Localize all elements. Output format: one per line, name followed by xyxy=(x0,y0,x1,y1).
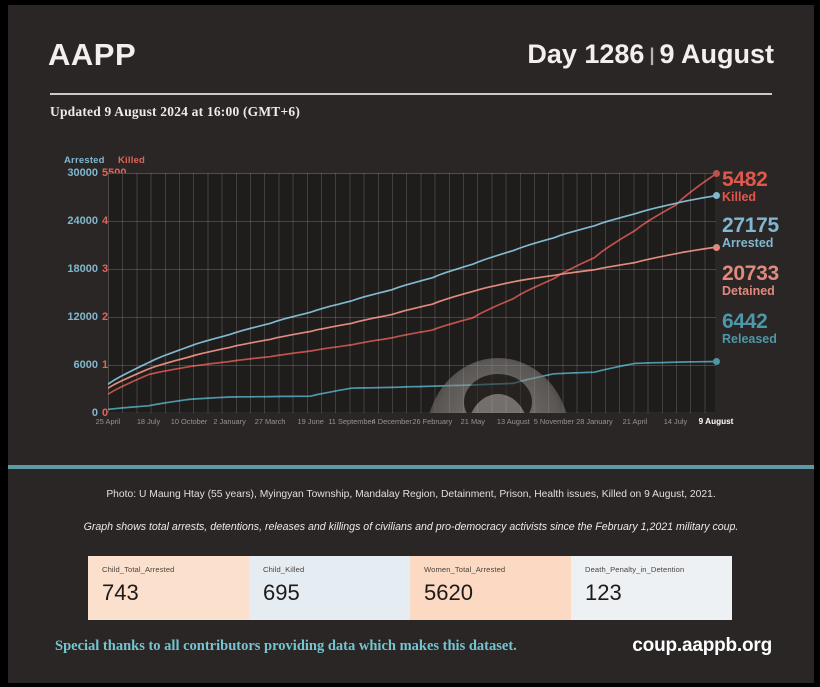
website-url[interactable]: coup.aappb.org xyxy=(632,635,772,657)
x-tick-label: 14 July xyxy=(664,417,687,426)
x-tick-label: 26 February xyxy=(412,417,452,426)
header: AAPP Day 1286|9 August xyxy=(48,33,774,95)
org-title: AAPP xyxy=(48,37,136,73)
endpoint-released xyxy=(713,358,720,365)
stat-card-key: Death_Penalty_in_Detention xyxy=(585,565,732,574)
x-tick-label: 5 November xyxy=(534,417,574,426)
y-tick-arr-0: 0 xyxy=(50,408,98,418)
graph-caption: Graph shows total arrests, detentions, r… xyxy=(8,521,814,533)
stat-card-value: 123 xyxy=(585,580,732,606)
stat-card-row: Child_Total_Arrested743Child_Killed695Wo… xyxy=(88,556,732,620)
stat-card[interactable]: Women_Total_Arrested5620 xyxy=(410,556,571,620)
header-date: 9 August xyxy=(660,39,775,69)
x-tick-label: 13 August xyxy=(497,417,530,426)
stat-card-value: 743 xyxy=(102,580,249,606)
x-tick-label: 9 August xyxy=(699,417,734,426)
header-rule xyxy=(50,93,772,95)
title-separator: | xyxy=(649,45,654,66)
thanks-note: Special thanks to all contributors provi… xyxy=(55,638,517,655)
plot-area xyxy=(108,173,716,413)
x-tick-label: 19 June xyxy=(298,417,324,426)
stat-card-key: Child_Killed xyxy=(263,565,410,574)
stat-card-key: Women_Total_Arrested xyxy=(424,565,571,574)
callout-detained: 20733Detained xyxy=(722,263,779,298)
section-divider xyxy=(8,465,814,469)
y-tick-arr-30000: 30000 xyxy=(50,168,98,178)
x-tick-label: 21 May xyxy=(461,417,485,426)
callout-killed: 5482Killed xyxy=(722,169,768,204)
stat-card[interactable]: Child_Killed695 xyxy=(249,556,410,620)
chart: Arrested Killed 060001200018000240003000… xyxy=(50,155,790,445)
y-tick-arr-12000: 12000 xyxy=(50,312,98,322)
updated-timestamp: Updated 9 August 2024 at 16:00 (GMT+6) xyxy=(50,104,300,120)
stat-card-value: 5620 xyxy=(424,580,571,606)
x-tick-label: 10 October xyxy=(171,417,208,426)
callout-arrested: 27175Arrested xyxy=(722,215,779,250)
endpoint-detained xyxy=(713,244,720,251)
day-date-title: Day 1286|9 August xyxy=(527,39,774,70)
poster: AAPP Day 1286|9 August Updated 9 August … xyxy=(0,0,820,687)
stat-card[interactable]: Death_Penalty_in_Detention123 xyxy=(571,556,732,620)
callout-label: Released xyxy=(722,332,777,346)
x-tick-label: 27 March xyxy=(255,417,286,426)
axis-title-arrested: Arrested xyxy=(64,155,105,166)
stat-card-key: Child_Total_Arrested xyxy=(102,565,249,574)
callout-label: Killed xyxy=(722,190,768,204)
day-counter: Day 1286 xyxy=(527,39,644,69)
y-tick-arr-6000: 6000 xyxy=(50,360,98,370)
callout-value: 5482 xyxy=(722,169,768,190)
x-tick-label: 25 April xyxy=(96,417,121,426)
callout-value: 6442 xyxy=(722,311,777,332)
x-tick-label: 11 September xyxy=(328,417,374,426)
endpoint-killed xyxy=(713,170,720,177)
callout-value: 20733 xyxy=(722,263,779,284)
callout-label: Detained xyxy=(722,284,779,298)
x-tick-label: 21 April xyxy=(623,417,648,426)
photo-caption: Photo: U Maung Htay (55 years), Myingyan… xyxy=(8,489,814,500)
axis-title-killed: Killed xyxy=(118,155,145,166)
poster-card: AAPP Day 1286|9 August Updated 9 August … xyxy=(8,5,814,683)
horizontal-gridlines xyxy=(108,173,716,413)
stat-card[interactable]: Child_Total_Arrested743 xyxy=(88,556,249,620)
callout-label: Arrested xyxy=(722,236,779,250)
x-tick-label: 4 December xyxy=(372,417,412,426)
stat-card-value: 695 xyxy=(263,580,410,606)
x-tick-label: 2 January xyxy=(213,417,245,426)
y-tick-arr-24000: 24000 xyxy=(50,216,98,226)
x-tick-label: 18 July xyxy=(137,417,160,426)
endpoint-arrested xyxy=(713,192,720,199)
callout-value: 27175 xyxy=(722,215,779,236)
y-tick-arr-18000: 18000 xyxy=(50,264,98,274)
callout-released: 6442Released xyxy=(722,311,777,346)
x-tick-label: 28 January xyxy=(576,417,613,426)
